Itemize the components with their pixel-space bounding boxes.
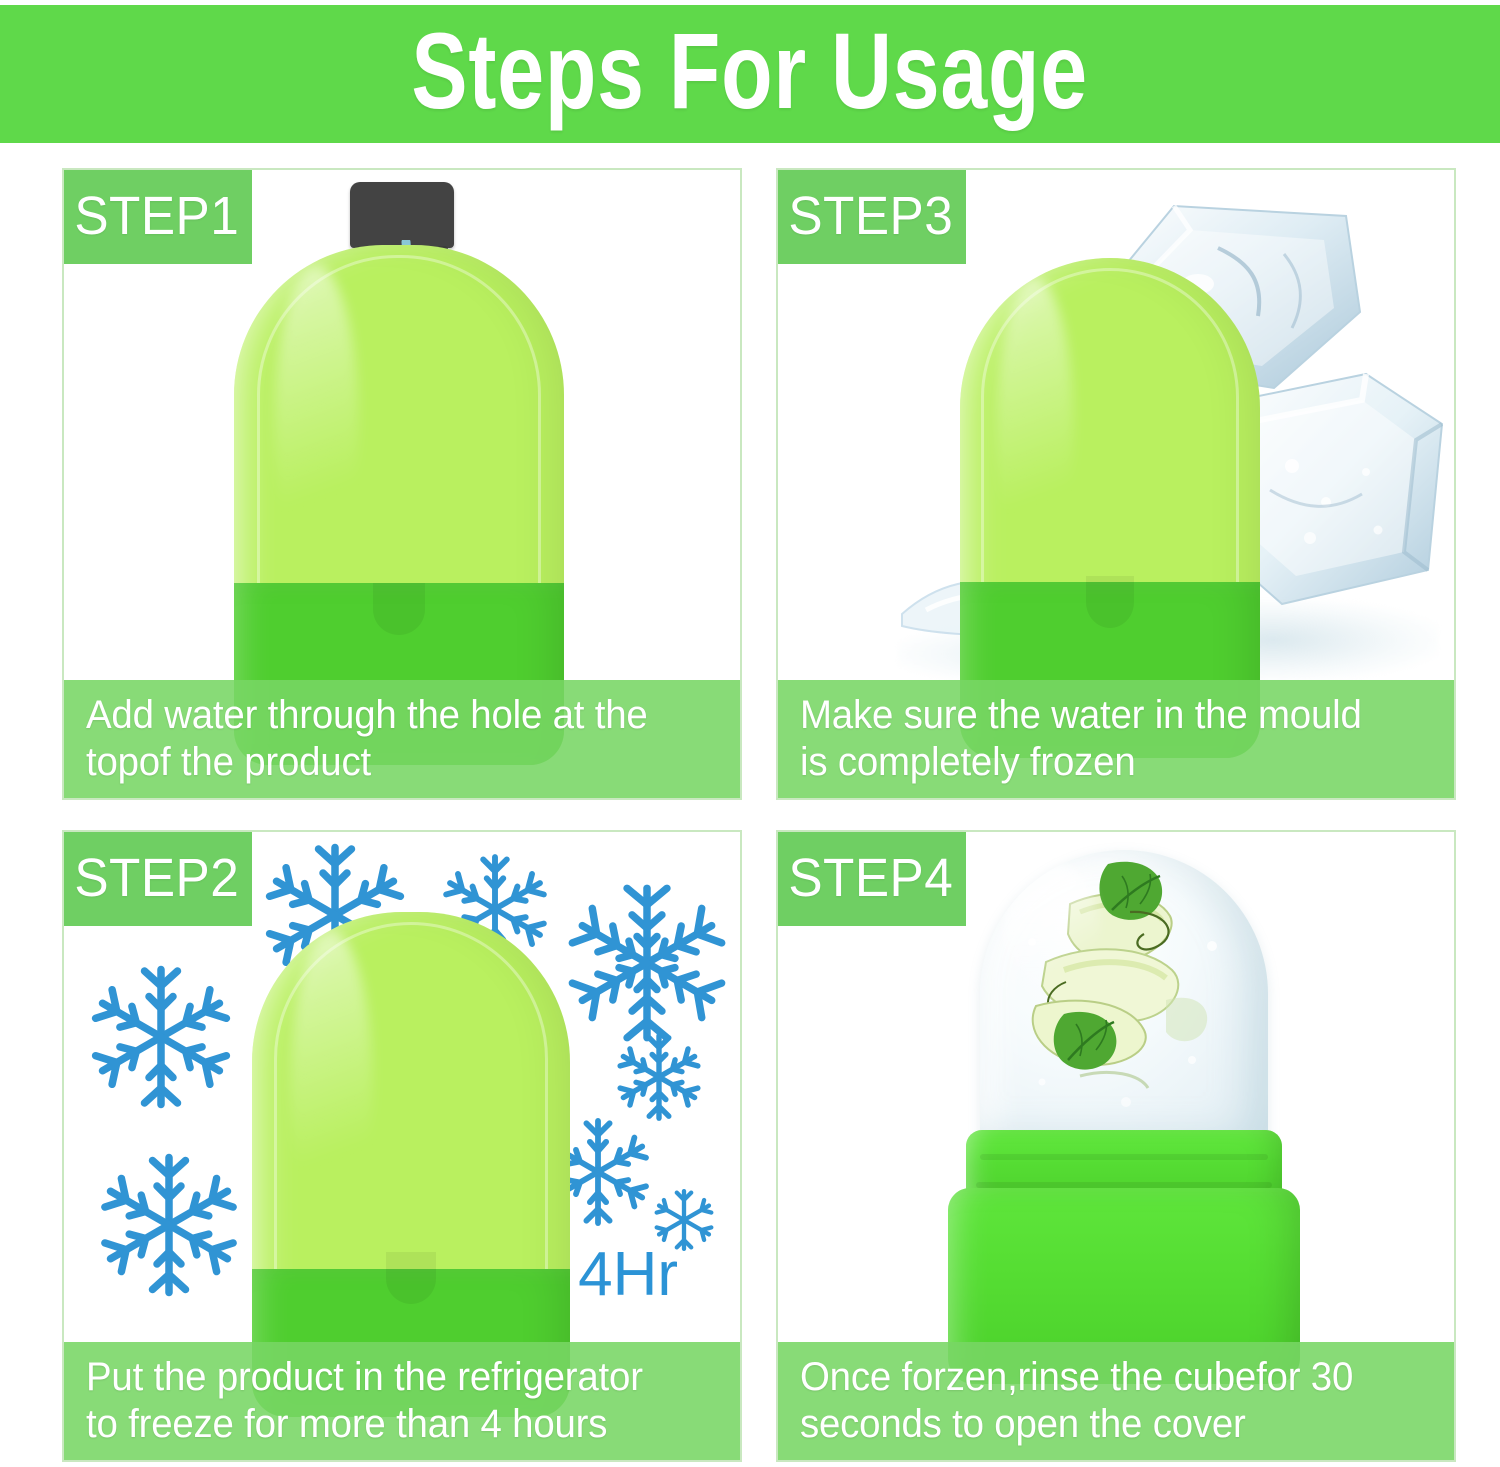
snowflake-icon	[564, 880, 730, 1046]
step-panel-4: STEP4 Once forzen,rinse the cubefor 30 s…	[776, 830, 1456, 1462]
steps-grid: STEP1 Add water through the hole at the …	[0, 150, 1500, 1460]
gloss-highlight	[274, 266, 360, 588]
step-caption-4: Once forzen,rinse the cubefor 30 seconds…	[778, 1342, 1454, 1460]
step-badge-1: STEP1	[62, 168, 252, 264]
step-caption-2: Put the product in the refrigerator to f…	[64, 1342, 740, 1460]
infographic-page: Steps For Usage	[0, 0, 1500, 1467]
step-badge-2: STEP2	[62, 830, 252, 926]
gloss-highlight	[996, 278, 1074, 588]
gloss-highlight	[290, 932, 373, 1245]
page-title: Steps For Usage	[412, 17, 1088, 125]
product-seam-notch	[373, 583, 426, 635]
step-caption-1: Add water through the hole at the topof …	[64, 680, 740, 798]
page-header: Steps For Usage	[0, 5, 1500, 143]
product-seam-notch	[386, 1252, 437, 1304]
frozen-ice-cube	[980, 850, 1268, 1150]
step-panel-3: STEP3 Make sure the water in the mould i…	[776, 168, 1456, 800]
step-panel-1: STEP1 Add water through the hole at the …	[62, 168, 742, 800]
step-panel-2: 4Hr STEP2 Put the product in the refrige…	[62, 830, 742, 1462]
step-badge-3: STEP3	[776, 168, 966, 264]
bottle-cap-icon	[350, 182, 454, 248]
step-badge-4: STEP4	[776, 830, 966, 926]
step-caption-3: Make sure the water in the mould is comp…	[778, 680, 1454, 798]
snowflake-icon	[94, 1150, 244, 1300]
collar-groove	[980, 1154, 1268, 1160]
product-seam-notch	[1086, 576, 1134, 628]
duration-label: 4Hr	[578, 1239, 678, 1310]
cucumber-and-mint-inclusions-icon	[980, 850, 1268, 1150]
snowflake-icon	[610, 1028, 708, 1126]
snowflake-icon	[86, 962, 236, 1112]
